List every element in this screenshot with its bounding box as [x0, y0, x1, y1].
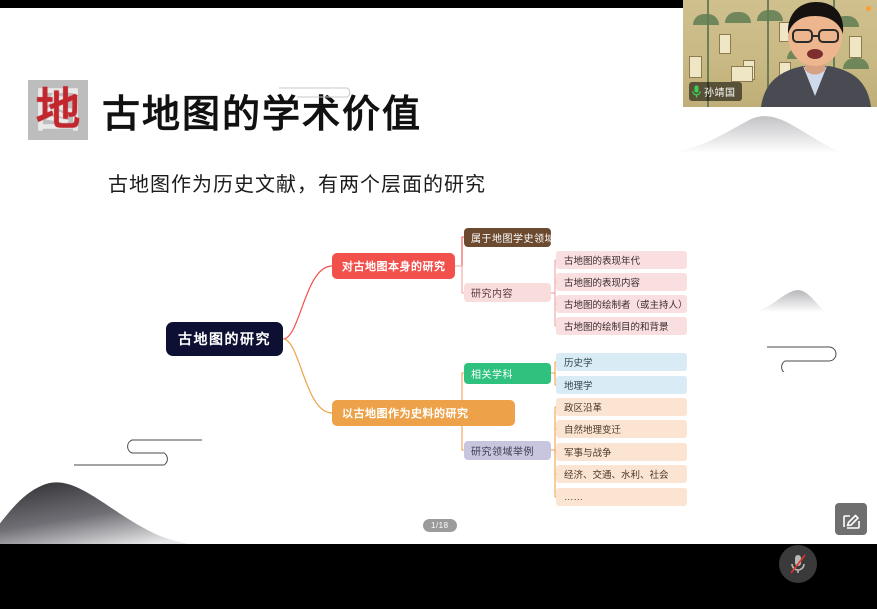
mindmap-leaf[interactable]: 历史学	[556, 353, 687, 371]
pen-annotate-icon	[842, 510, 861, 529]
mindmap-branch-node-1[interactable]: 对古地图本身的研究	[332, 253, 455, 279]
mindmap-leaf[interactable]: 自然地理变迁	[556, 420, 687, 438]
microphone-icon	[692, 85, 701, 98]
mindmap-leaf[interactable]: 地理学	[556, 376, 687, 394]
screenshare-window: 图 地 古地图的学术价值 古地图作为历史文献，有两个层面的研究	[0, 0, 877, 609]
mindmap-leaf[interactable]: 古地图的表现年代	[556, 251, 687, 269]
mindmap-branch-node-2[interactable]: 以古地图作为史料的研究	[332, 400, 515, 426]
mindmap-category-node-2-2[interactable]: 研究领域举例	[464, 441, 551, 460]
microphone-muted-icon	[788, 553, 808, 575]
participant-webcam-image	[759, 0, 871, 107]
mindmap-category-node-1-1[interactable]: 属于地图学史领域	[464, 228, 551, 247]
mindmap-root-node[interactable]: 古地图的研究	[166, 322, 283, 356]
mindmap-leaf[interactable]: ……	[556, 488, 687, 506]
mindmap-leaf[interactable]: 政区沿革	[556, 398, 687, 416]
mindmap-category-node-1-2[interactable]: 研究内容	[464, 283, 551, 302]
participant-name: 孙靖国	[704, 84, 736, 99]
mindmap-leaf[interactable]: 古地图的绘制者（或主持人）	[556, 295, 687, 313]
microphone-toggle-button[interactable]	[779, 545, 817, 583]
participant-name-badge: 孙靖国	[689, 82, 742, 101]
mindmap-category-node-2-1[interactable]: 相关学科	[464, 363, 551, 384]
annotate-tool-button[interactable]	[835, 503, 867, 535]
recording-indicator-icon	[866, 6, 871, 11]
mindmap-leaf[interactable]: 军事与战争	[556, 443, 687, 461]
page-indicator: 1/18	[423, 519, 457, 532]
mindmap-leaf[interactable]: 古地图的表现内容	[556, 273, 687, 291]
mindmap-leaf[interactable]: 经济、交通、水利、社会	[556, 465, 687, 483]
participant-video-tile[interactable]: 孙靖国	[683, 0, 877, 107]
mindmap-leaf[interactable]: 古地图的绘制目的和背景	[556, 317, 687, 335]
